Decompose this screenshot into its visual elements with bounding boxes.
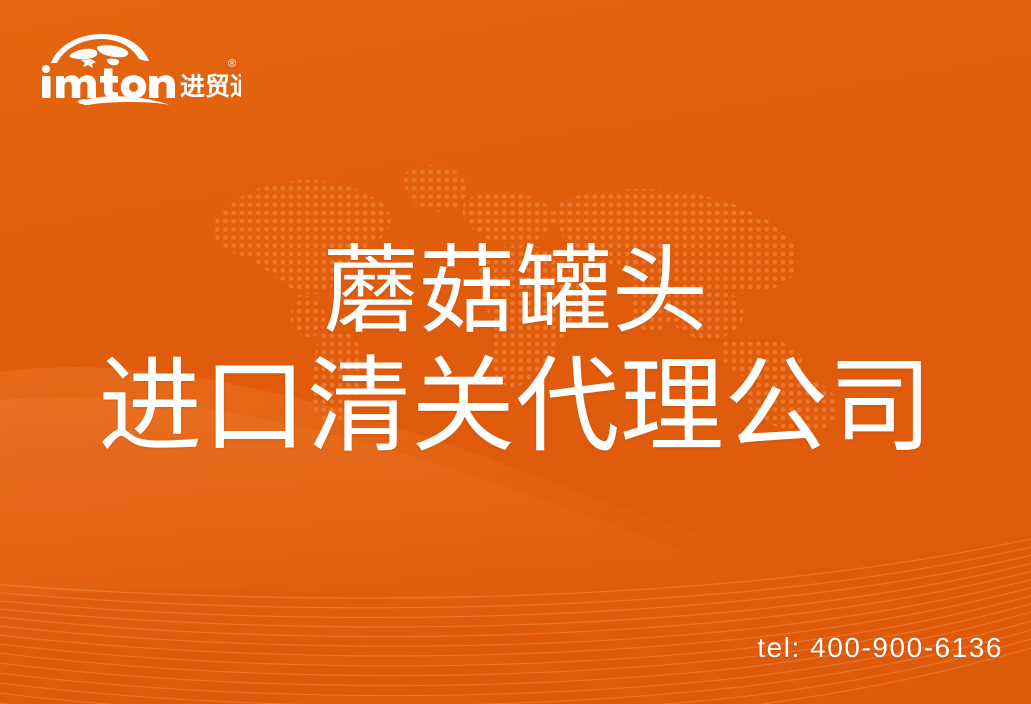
page-title: 蘑菇罐头 进口清关代理公司 (0, 236, 1031, 468)
trademark-icon: ® (228, 58, 236, 70)
logo-wordmark-latin (42, 65, 175, 99)
promo-banner: 进贸通 ® 蘑菇罐头 进口清关代理公司 tel: 400-900-6136 (0, 0, 1031, 704)
contact-phone[interactable]: tel: 400-900-6136 (757, 632, 1003, 664)
brand-logo[interactable]: 进贸通 ® (36, 33, 241, 105)
headline-line-1: 蘑菇罐头 (0, 236, 1031, 347)
headline-line-2: 进口清关代理公司 (0, 347, 1031, 468)
logo-wordmark-chinese: 进贸通 (180, 73, 241, 101)
globe-arc-icon (51, 34, 149, 68)
